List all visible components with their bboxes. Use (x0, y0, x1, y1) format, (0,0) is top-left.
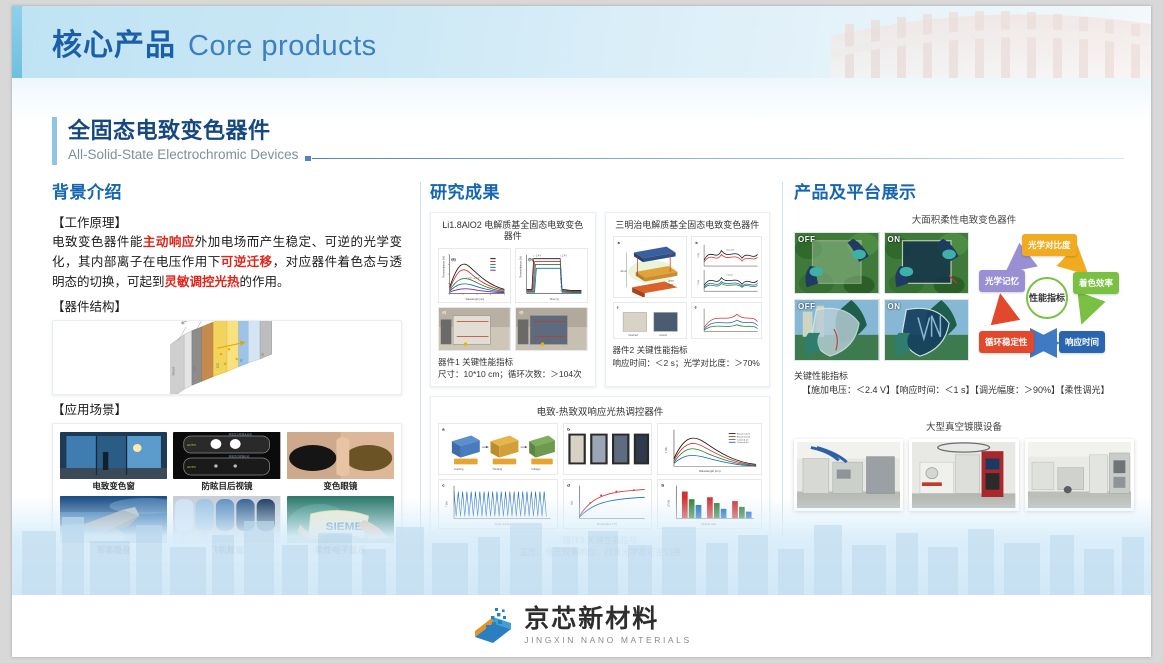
research-note-line: 器件1 关键性能指标 (438, 356, 588, 368)
figure-row: a (613, 236, 763, 298)
svg-text:-2.4 V: -2.4 V (535, 255, 541, 257)
cycle-node-optical-memory: 光学记忆 (979, 270, 1025, 292)
sandwich-cell-photo: c bleached colored (613, 302, 687, 339)
key-metrics-block: 关键性能指标 【施加电压：＜2.4 V】【响应时间：＜1 s】【调光幅度：＞90… (794, 370, 1134, 397)
svg-text:防眩目后视镜未启动: 防眩目后视镜未启动 (229, 432, 253, 436)
svg-text:Bleached-25: Bleached-25 (737, 434, 751, 436)
flexible-device-caption: 大面积柔性电致变色器件 (794, 212, 1134, 226)
page-title: 核心产品Core products (52, 20, 377, 64)
cycle-node-response-time: 响应时间 (1059, 331, 1105, 353)
cycle-node-cycling-stability: 循环稳定性 (979, 331, 1034, 353)
research-cards-row: Li1.8AlO2 电解质基全固态电致变色器件 (a) (430, 212, 770, 387)
svg-text:bleached: bleached (628, 334, 638, 337)
page-title-en: Core products (188, 30, 377, 62)
svg-text:(d): (d) (519, 310, 523, 314)
spectra-chart-c: Bleached-25Bleached-60 Colored-25Colored… (657, 423, 762, 475)
svg-text:Colored-60: Colored-60 (737, 442, 750, 444)
device-photo-off-1: OFF (794, 232, 880, 294)
svg-text:Transmittance (%): Transmittance (%) (518, 255, 522, 277)
cycle-node-coloration-efficiency: 着色效率 (1073, 272, 1119, 294)
research-note-line: 响应时间：＜2 s；光学对比度：＞70% (613, 357, 763, 369)
device-photos-b: b (563, 423, 652, 475)
device-photo-off-2: OFF (794, 299, 880, 361)
svg-text:ITO: ITO (193, 366, 197, 372)
svg-text:AUTO: AUTO (187, 465, 196, 469)
research-note: 器件1 关键性能指标 尺寸：10*10 cm；循环次数：＞104次 (438, 356, 588, 381)
photochromic-glasses-photo (287, 432, 394, 479)
svg-text:Cooling: Cooling (454, 467, 464, 471)
right-column-heading: 产品及平台展示 (794, 178, 1134, 203)
scenario-item: 变色眼镜 (287, 432, 394, 491)
column-background: 产品及平台展示 大面积柔性电致变色器件 OFF (794, 178, 1134, 511)
key-metrics-title: 关键性能指标 (794, 370, 1134, 384)
transmittance-spectra-chart: (a) (438, 248, 511, 303)
svg-text:Bleached-60: Bleached-60 (737, 437, 751, 439)
sandwich-structure-diagram: a (613, 236, 687, 298)
principle-highlight-1: 主动响应 (143, 235, 195, 249)
section-title: 全固态电致变色器件 All-Solid-State Electrochromic… (52, 113, 298, 162)
svg-text:(b): (b) (528, 257, 533, 261)
research-note: 器件2 关键性能指标 响应时间：＜2 s；光学对比度：＞70% (613, 344, 763, 369)
figure-row: (a) (438, 248, 588, 303)
dual-response-figure-row-1: a (438, 423, 762, 475)
scenario-tag: 【应用场景】 (52, 399, 402, 418)
logo-title-cn: 京芯新材料 (524, 607, 692, 632)
svg-text:-2.4 V ~ 2.4 V: -2.4 V ~ 2.4 V (466, 276, 480, 279)
svg-text:b: b (662, 483, 665, 488)
principle-tag: 【工作原理】 (52, 212, 402, 231)
section-title-en: All-Solid-State Electrochromic Devices (68, 147, 298, 162)
svg-text:(c): (c) (443, 310, 447, 314)
research-note-line: 器件2 关键性能指标 (613, 344, 763, 356)
section-divider (312, 158, 1124, 159)
principle-text-1: 电致变色器件能 (52, 235, 143, 249)
device-photo-on-2: ON (884, 299, 970, 361)
state-label: OFF (798, 302, 816, 311)
research-card-caption: 三明治电解质基全固态电致变色器件 (613, 220, 763, 231)
svg-text:玻璃基底: 玻璃基底 (180, 321, 194, 326)
svg-text:bleached: bleached (726, 250, 734, 252)
onoff-photo-grid: OFF ON (794, 232, 969, 362)
colonnade-watermark-icon (831, 6, 1151, 78)
svg-text:防眩目后视镜启动: 防眩目后视镜启动 (229, 454, 250, 458)
svg-text:glass: glass (668, 280, 674, 283)
svg-text:T (%): T (%) (664, 447, 668, 453)
svg-text:Voltage: Voltage (531, 467, 541, 471)
cityscape-watermark-icon (12, 497, 1151, 595)
smart-window-photo (60, 432, 167, 479)
scenario-item: 电致变色窗 (60, 432, 167, 491)
state-label: OFF (798, 235, 816, 244)
svg-text:layer: layer (668, 284, 673, 287)
svg-text:Transmittance (%): Transmittance (%) (441, 255, 445, 277)
middle-column-heading: 研究成果 (430, 178, 770, 203)
research-card: 三明治电解质基全固态电致变色器件 a (605, 212, 771, 387)
svg-text:Wavelength (nm): Wavelength (nm) (699, 469, 721, 473)
section-accent-bar (52, 117, 57, 165)
bleached-device-photo: (c) (438, 307, 511, 351)
scenario-label: 变色眼镜 (287, 481, 394, 491)
scenario-label: 防眩目后视镜 (173, 481, 280, 491)
scenario-item: AUTOAUTO 防眩目后视镜未启动防眩目后视镜启动 防眩目后视镜 (173, 432, 280, 491)
svg-text:T (%): T (%) (698, 280, 700, 286)
performance-metrics-cycle-diagram: 光学对比度 着色效率 响应时间 循环稳定性 光学记忆 性能指标 (979, 232, 1129, 362)
svg-text:(a): (a) (451, 257, 456, 261)
research-card: Li1.8AlO2 电解质基全固态电致变色器件 (a) (430, 212, 596, 387)
scenario-label: 电致变色窗 (60, 481, 167, 491)
svg-text:Time (s): Time (s) (549, 296, 558, 300)
flexible-device-row: OFF ON (794, 232, 1134, 362)
key-metrics-line: 【施加电压：＜2.4 V】【响应时间：＜1 s】【调光幅度：＞90%】【柔性调光… (794, 384, 1134, 398)
research-card-caption: Li1.8AlO2 电解质基全固态电致变色器件 (438, 220, 588, 243)
device-photo-on-1: ON (884, 232, 970, 294)
principle-highlight-3: 灵敏调控光热 (165, 275, 240, 289)
section-title-cn: 全固态电致变色器件 (68, 113, 298, 145)
page-title-cn: 核心产品 (52, 29, 176, 62)
figure-row-2: c bleached colored d (613, 302, 763, 339)
logo-text-block: 京芯新材料 JINGXIN NANO MATERIALS (524, 607, 692, 645)
structure-tag: 【器件结构】 (52, 296, 402, 315)
state-label: ON (888, 235, 901, 244)
svg-text:Colored-25: Colored-25 (737, 440, 750, 442)
svg-text:AUTO: AUTO (187, 443, 196, 447)
device-structure-figure: 玻璃基底 透明导电层 电致变色层 电解质层 离子存储层 Glass ITO EC… (52, 320, 402, 395)
principle-highlight-2: 可逆迁移 (221, 255, 273, 269)
svg-text:d: d (695, 306, 697, 310)
svg-text:colored: colored (726, 275, 732, 277)
jingxin-logo-icon (471, 607, 515, 645)
layered-device-diagram-icon: 玻璃基底 透明导电层 电致变色层 电解质层 离子存储层 Glass ITO EC… (53, 321, 401, 394)
header-accent-bar (12, 6, 22, 78)
dual-response-caption: 电致-热致双响应光热调控器件 (438, 404, 762, 418)
cycle-center-label: 性能指标 (1026, 277, 1068, 319)
principle-text-4: 的作用。 (240, 275, 290, 289)
cycle-node-optical-contrast: 光学对比度 (1022, 234, 1077, 256)
slide-canvas: 核心产品Core products 全固态电致变色器件 All-Solid-St… (12, 6, 1151, 657)
colored-device-photo: (d) (515, 307, 588, 351)
left-column-heading: 背景介绍 (52, 178, 402, 203)
logo-title-en: JINGXIN NANO MATERIALS (524, 635, 692, 645)
anti-glare-mirror-photo: AUTOAUTO 防眩目后视镜未启动防眩目后视镜启动 (173, 432, 280, 479)
switching-cycles-chart: (b) -2.4 V2.4 V Transmittance (%) Time (… (515, 248, 588, 303)
svg-text:Glass: Glass (171, 367, 175, 376)
svg-text:EC: EC (216, 363, 220, 368)
slide-header: 核心产品Core products (12, 6, 1151, 78)
svg-text:2.4 V: 2.4 V (562, 255, 567, 257)
spectra-chart-b: b bleachedcolored (691, 236, 762, 298)
device-schematic-a: a (438, 423, 558, 475)
photo-row: (c) (d) (438, 307, 588, 351)
cv-chart-d: d (691, 302, 762, 339)
svg-text:Wavelength (nm): Wavelength (nm) (466, 296, 485, 300)
research-note-line: 尺寸：10*10 cm；循环次数：＞104次 (438, 368, 588, 380)
svg-text:~6mm: ~6mm (619, 269, 627, 273)
svg-text:T (%): T (%) (698, 253, 700, 259)
slide-footer: 京芯新材料 JINGXIN NANO MATERIALS (12, 595, 1151, 657)
svg-text:colored: colored (659, 334, 667, 337)
svg-text:Heating: Heating (493, 467, 503, 471)
state-label: ON (888, 302, 901, 311)
svg-text:c: c (616, 306, 618, 310)
equipment-caption: 大型真空镀膜设备 (794, 419, 1134, 433)
principle-paragraph: 电致变色器件能主动响应外加电场而产生稳定、可逆的光学变化，其内部离子在电压作用下… (52, 233, 402, 292)
